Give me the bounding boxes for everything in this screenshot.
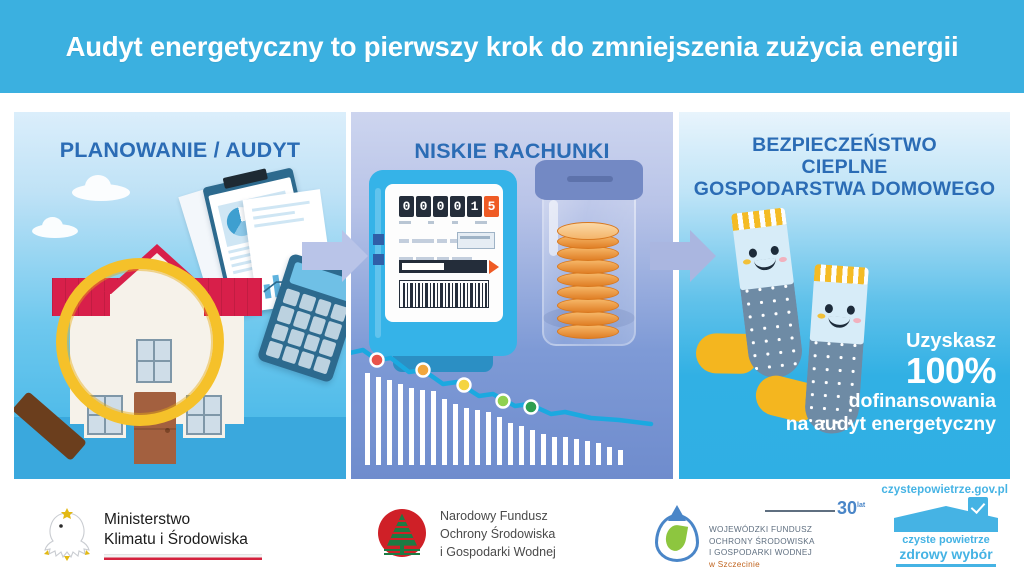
cloud-icon: [72, 184, 130, 201]
logo-wfosigw-szczecin: 30lat WOJEWÓDZKI FUNDUSZ OCHRONY ŚRODOWI…: [655, 504, 869, 571]
chart-marker: [497, 395, 510, 408]
arrow-right-icon: [302, 230, 370, 282]
logo-ministerstwo-klimatu: Ministerstwo Klimatu i Środowiska: [40, 506, 262, 564]
nfosigw-line-3: i Gospodarki Wodnej: [440, 544, 556, 562]
heading-line-2: CIEPLNE: [679, 157, 1010, 179]
coin: [557, 324, 619, 339]
ministry-line-1: Ministerstwo: [104, 510, 262, 530]
footer-logos: Ministerstwo Klimatu i Środowiska Narodo…: [0, 500, 1024, 576]
cheek-icon: [743, 259, 752, 265]
meter-dial-ticks: [399, 221, 487, 224]
chart-marker: [371, 354, 384, 367]
nfosigw-emblem-icon: [378, 509, 430, 561]
polish-eagle-icon: [40, 506, 94, 564]
magnifying-glass-icon: [26, 258, 226, 458]
sock-leg: [733, 222, 794, 290]
wfosigw-line-2: OCHRONY ŚRODOWISKA: [709, 536, 869, 548]
czyste-powietrze-line-2: zdrowy wybór: [894, 546, 998, 562]
panel-bezpieczenstwo-cieplne: BEZPIECZEŃSTWO CIEPLNE GOSPODARSTWA DOMO…: [679, 112, 1010, 479]
arrow-right-icon: [650, 230, 718, 282]
checkmark-icon: [968, 497, 988, 517]
cloud-icon: [32, 224, 78, 238]
chart-marker: [417, 364, 430, 377]
coin: [557, 285, 619, 300]
nfosigw-line-1: Narodowy Fundusz: [440, 508, 556, 526]
coin: [557, 272, 619, 287]
panel-planowanie-audyt: PLANOWANIE / AUDYT: [14, 112, 346, 479]
nfosigw-text: Narodowy Fundusz Ochrony Środowiska i Go…: [440, 508, 556, 561]
coin: [557, 259, 619, 274]
chart-marker: [525, 401, 538, 414]
declining-chart: [351, 344, 673, 479]
cheek-icon: [779, 257, 788, 263]
anniversary-number: 30: [837, 498, 857, 518]
polish-flag-rule: [104, 554, 262, 560]
czyste-powietrze-emblem: czyste powietrze zdrowy wybór: [888, 506, 1004, 568]
panels-row: PLANOWANIE / AUDYT: [0, 112, 1024, 479]
infographic-page: Audyt energetyczny to pierwszy krok do z…: [0, 0, 1024, 576]
anniversary-unit: lat: [857, 502, 865, 509]
eye-icon: [748, 248, 757, 258]
heading-line-3: GOSPODARSTWA DOMOWEGO: [679, 179, 1010, 201]
meter-digit: 0: [433, 196, 448, 217]
meter-face: 0 0 0 0 1 5: [385, 184, 503, 322]
meter-digit-red: 5: [484, 196, 499, 217]
eye-icon: [825, 304, 834, 314]
jar-lid: [535, 160, 643, 200]
wfosigw-text-block: 30lat WOJEWÓDZKI FUNDUSZ OCHRONY ŚRODOWI…: [709, 504, 869, 571]
meter-digit-dials: 0 0 0 0 1 5: [399, 196, 499, 217]
cheek-icon: [853, 318, 861, 324]
meter-body: 0 0 0 0 1 5: [369, 170, 517, 356]
meter-button: [373, 254, 384, 265]
funding-percent: 100%: [772, 352, 996, 390]
divider: [765, 510, 835, 512]
ministry-text: Ministerstwo Klimatu i Środowiska: [104, 510, 262, 561]
meter-digit: 0: [450, 196, 465, 217]
funding-callout: Uzyskasz 100% dofinansowania na audyt en…: [772, 330, 996, 437]
meter-digit: 1: [467, 196, 482, 217]
coin: [557, 311, 619, 326]
czyste-powietrze-line-1: czyste powietrze: [894, 534, 998, 546]
coin: [557, 298, 619, 313]
calculator-keys: [265, 288, 346, 374]
panel-heading-planowanie: PLANOWANIE / AUDYT: [14, 138, 346, 162]
smile-icon: [754, 258, 777, 272]
anniversary-badge: 30lat: [837, 498, 865, 519]
meter-digit: 0: [416, 196, 431, 217]
logo-nfosigw: Narodowy Fundusz Ochrony Środowiska i Go…: [378, 508, 556, 561]
smile-icon: [828, 316, 851, 329]
chart-marker: [458, 379, 471, 392]
logo-czyste-powietrze: czyste powietrze zdrowy wybór: [888, 506, 1004, 568]
meter-digit: 0: [399, 196, 414, 217]
funding-line-3: na audyt energetyczny: [772, 413, 996, 436]
panel-heading-bezpieczenstwo: BEZPIECZEŃSTWO CIEPLNE GOSPODARSTWA DOMO…: [679, 135, 1010, 200]
panel-heading-niskie-rachunki: NISKIE RACHUNKI: [351, 139, 673, 163]
funding-line-2: dofinansowania: [772, 390, 996, 413]
wfosigw-city: w Szczecinie: [709, 559, 869, 571]
water-drop-leaf-icon: [655, 510, 701, 564]
meter-button: [373, 234, 384, 245]
header-title: Audyt energetyczny to pierwszy krok do z…: [66, 31, 959, 63]
meter-lcd-display: [457, 232, 495, 249]
meter-pointer-icon: [489, 260, 499, 274]
wfosigw-line-1: WOJEWÓDZKI FUNDUSZ: [709, 524, 869, 536]
meter-scale-strip: [399, 260, 487, 273]
water-waves-icon: [384, 549, 420, 557]
wfosigw-line-3: I GOSPODARKI WODNEJ: [709, 547, 869, 559]
chart-trend-line: [351, 344, 673, 449]
magnifier-lens: [56, 258, 224, 426]
coin-top: [557, 222, 619, 240]
eye-icon: [847, 305, 856, 315]
underline-rule: [896, 564, 996, 567]
barcode-icon: [399, 280, 489, 308]
nfosigw-line-2: Ochrony Środowiska: [440, 526, 556, 544]
site-url[interactable]: czystepowietrze.gov.pl: [881, 484, 1008, 496]
eye-icon: [770, 245, 779, 255]
report-text-lines: [252, 201, 313, 233]
cheek-icon: [817, 313, 825, 319]
panel-niskie-rachunki: NISKIE RACHUNKI 0 0 0 0 1 5: [351, 112, 673, 479]
header-banner: Audyt energetyczny to pierwszy krok do z…: [0, 0, 1024, 93]
ministry-line-2: Klimatu i Środowiska: [104, 530, 262, 550]
coin-jar-icon: [533, 160, 645, 352]
coin-stack: [557, 226, 621, 338]
heading-line-1: BEZPIECZEŃSTWO: [679, 135, 1010, 157]
